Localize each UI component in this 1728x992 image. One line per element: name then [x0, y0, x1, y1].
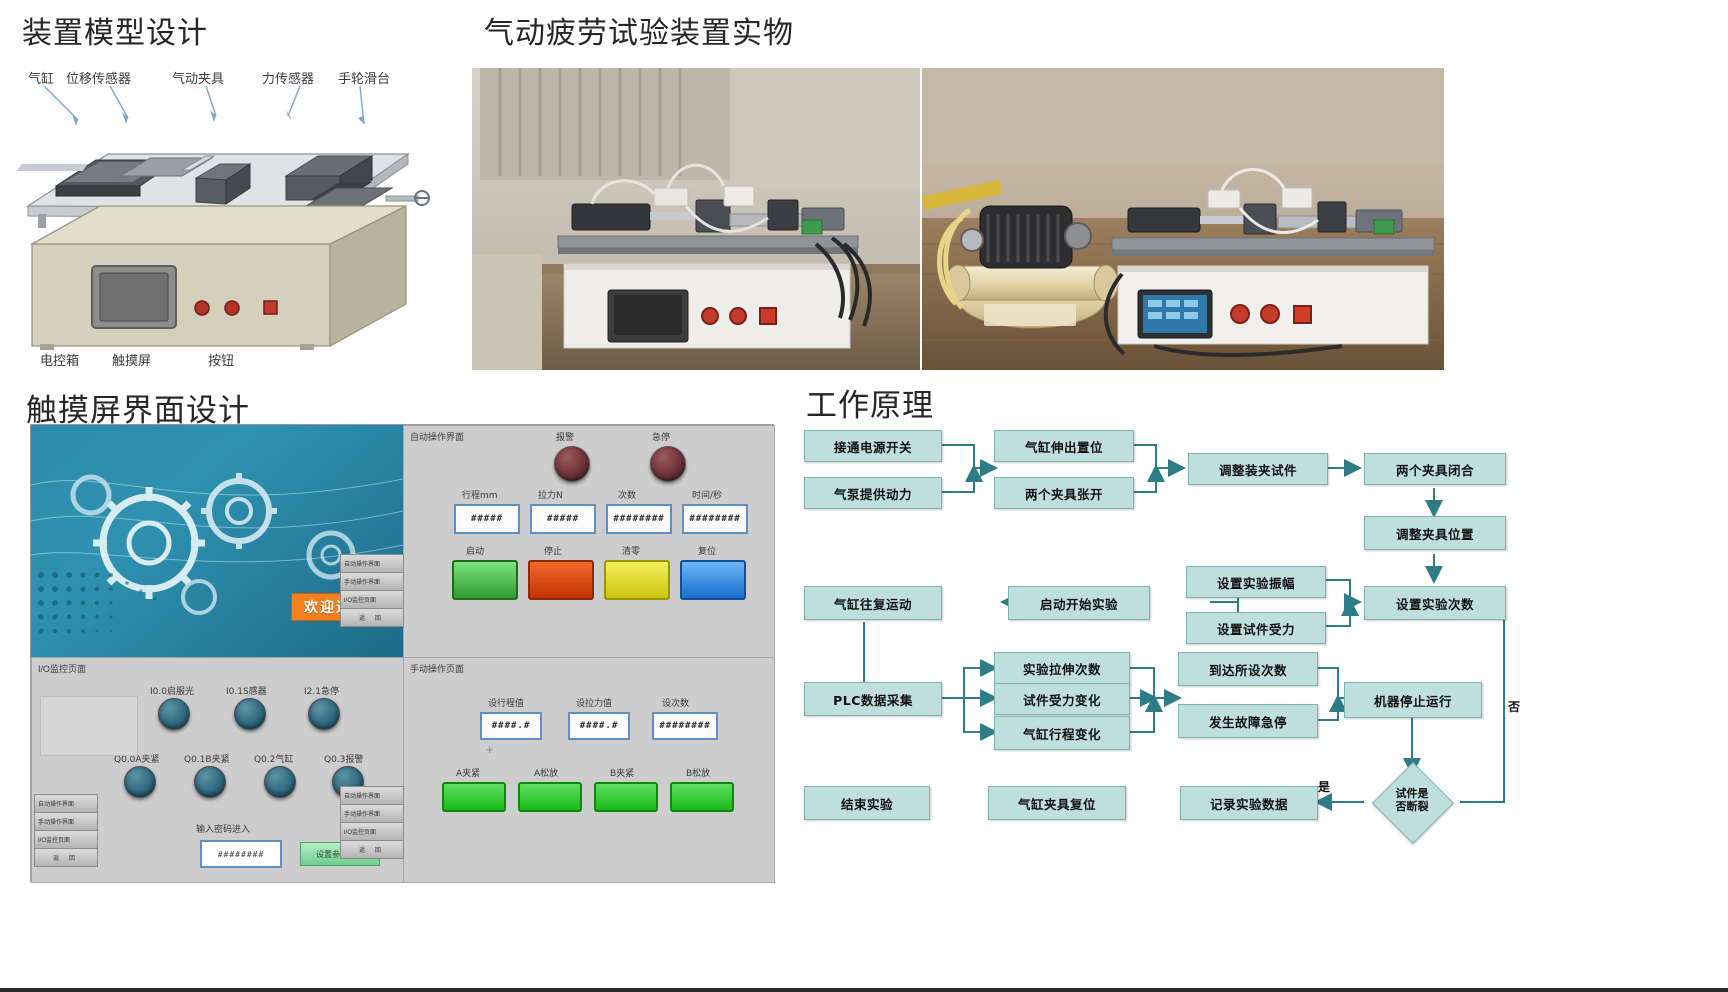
section-title-photo: 气动疲劳试验装置实物 [484, 8, 794, 52]
nav-auto-page-manual[interactable]: 自动操作界面 [340, 786, 404, 804]
nav-back-io[interactable]: 返 回 [34, 848, 98, 867]
flow-node-grippers-close: 两个夹具闭合 [1364, 453, 1506, 485]
io-lamp-q00[interactable] [124, 766, 156, 798]
hmi-manual-panel: 手动操作页面 设行程值 ####.# 设拉力值 ####.# 设次数 #####… [403, 657, 775, 883]
cad-model-drawing [0, 58, 460, 378]
io-blank-frame [40, 696, 138, 756]
auto-nav-stack: 自动操作界面 手动操作界面 I/O监控页面 返 回 [340, 554, 404, 627]
footer-rule [0, 988, 1728, 992]
device-photo-with-compressor [922, 68, 1444, 370]
auto-button-label-clear: 清零 [622, 544, 640, 557]
nav-io-page-manual[interactable]: I/O监控页面 [340, 822, 404, 840]
manual-plus-marker: + [486, 742, 494, 757]
nav-auto-page-io[interactable]: 自动操作界面 [34, 794, 98, 812]
io-label-i00: I0.0启服光 [150, 684, 194, 697]
auto-field-label-count: 次数 [618, 488, 636, 501]
auto-clear-button[interactable] [604, 560, 670, 600]
nav-manual-page[interactable]: 手动操作界面 [340, 572, 404, 590]
flow-node-set-amplitude: 设置实验振幅 [1186, 566, 1326, 598]
nav-io-page[interactable]: I/O监控页面 [340, 590, 404, 608]
auto-field-value-time: ######## [682, 504, 748, 534]
hmi-auto-panel: 自动操作界面 报警 急停 行程mm ##### 拉力N ##### 次数 ###… [403, 425, 775, 659]
manual-field-value-count[interactable]: ######## [652, 712, 718, 740]
nav-back[interactable]: 返 回 [340, 608, 404, 627]
io-password-input[interactable]: ######## [200, 840, 282, 868]
manual-field-value-force[interactable]: ####.# [568, 712, 630, 740]
estop-lamp-icon [650, 446, 686, 482]
flow-node-cylinder-extend: 气缸伸出置位 [994, 430, 1134, 462]
auto-reset-button[interactable] [680, 560, 746, 600]
manual-nav-stack: 自动操作界面 手动操作界面 I/O监控页面 返 回 [340, 786, 404, 859]
manual-field-label-stroke: 设行程值 [488, 696, 524, 709]
flow-edge-label-no: 否 [1508, 698, 1520, 715]
flow-node-power-on: 接通电源开关 [804, 430, 942, 462]
auto-field-value-stroke: ##### [454, 504, 520, 534]
io-lamp-i00[interactable] [158, 698, 190, 730]
nav-manual-page-io[interactable]: 手动操作界面 [34, 812, 98, 830]
flow-node-start-test: 启动开始实验 [1008, 586, 1150, 620]
flow-node-set-test-count: 设置实验次数 [1364, 586, 1506, 620]
device-photo-front [472, 68, 920, 370]
auto-field-value-count: ######## [606, 504, 672, 534]
io-label-q03: Q0.3报警 [324, 752, 363, 765]
manual-field-label-count: 设次数 [662, 696, 689, 709]
io-lamp-i01[interactable] [234, 698, 266, 730]
manual-button-label-a-clamp: A夹紧 [456, 766, 480, 779]
auto-stop-button[interactable] [528, 560, 594, 600]
flow-node-set-specimen-force: 设置试件受力 [1186, 612, 1326, 644]
manual-panel-caption: 手动操作页面 [410, 662, 464, 675]
flow-node-cylinder-gripper-reset: 气缸夹具复位 [988, 786, 1126, 820]
flow-edge-label-yes: 是 [1318, 778, 1330, 795]
flow-node-force-change: 试件受力变化 [994, 683, 1130, 715]
auto-field-label-time: 时间/秒 [692, 488, 722, 501]
io-label-i21: I2.1急停 [304, 684, 339, 697]
manual-button-label-b-release: B松放 [686, 766, 710, 779]
auto-button-label-reset: 复位 [698, 544, 716, 557]
io-lamp-q01[interactable] [194, 766, 226, 798]
io-lamp-q02[interactable] [264, 766, 296, 798]
auto-field-label-force: 拉力N [538, 488, 563, 501]
manual-a-release-button[interactable] [518, 782, 582, 812]
section-title-principle: 工作原理 [806, 380, 934, 425]
flow-node-cylinder-reciprocate: 气缸往复运动 [804, 586, 942, 620]
poster-page: 装置模型设计 气动疲劳试验装置实物 触摸屏界面设计 工作原理 气缸 位移传感器 … [0, 0, 1728, 992]
hmi-interface-mockup: 欢迎进入 自动操作界面 报警 急停 行程mm ##### 拉力N ##### 次… [30, 424, 774, 882]
auto-button-label-start: 启动 [466, 544, 484, 557]
manual-b-clamp-button[interactable] [594, 782, 658, 812]
nav-manual-page-manual[interactable]: 手动操作界面 [340, 804, 404, 822]
flow-decision-label: 试件是 否断裂 [1376, 788, 1448, 813]
flow-node-grippers-open: 两个夹具张开 [994, 477, 1134, 509]
io-lamp-i21[interactable] [308, 698, 340, 730]
working-principle-flowchart: 接通电源开关 气泵提供动力 气缸伸出置位 两个夹具张开 调整装夹试件 两个夹具闭… [798, 420, 1718, 880]
flow-node-adjust-gripper-position: 调整夹具位置 [1364, 516, 1506, 550]
nav-io-page-io[interactable]: I/O监控页面 [34, 830, 98, 848]
flow-node-stroke-change: 气缸行程变化 [994, 716, 1130, 750]
auto-panel-caption: 自动操作界面 [410, 430, 464, 443]
flow-node-reached-count: 到达所设次数 [1178, 652, 1318, 686]
flow-node-end-test: 结束实验 [804, 786, 930, 820]
alarm-lamp-icon [554, 446, 590, 482]
flow-node-fault-estop: 发生故障急停 [1178, 704, 1318, 738]
auto-button-label-stop: 停止 [544, 544, 562, 557]
section-title-model: 装置模型设计 [22, 8, 208, 52]
flow-node-plc-data-collect: PLC数据采集 [804, 682, 942, 716]
nav-auto-page[interactable]: 自动操作界面 [340, 554, 404, 572]
manual-field-label-force: 设拉力值 [576, 696, 612, 709]
manual-field-value-stroke[interactable]: ####.# [480, 712, 542, 740]
cad-model-illustration: 气缸 位移传感器 气动夹具 力传感器 手轮滑台 电控箱 触摸屏 按钮 [0, 58, 460, 378]
io-panel-caption: I/O监控页面 [38, 662, 86, 675]
io-label-i01: I0.1S感器 [226, 684, 267, 697]
io-label-q01: Q0.1B夹紧 [184, 752, 230, 765]
flow-node-stretch-count: 实验拉伸次数 [994, 652, 1130, 684]
manual-button-label-b-clamp: B夹紧 [610, 766, 634, 779]
nav-back-manual[interactable]: 返 回 [340, 840, 404, 859]
flow-node-record-data: 记录实验数据 [1180, 786, 1318, 820]
auto-field-value-force: ##### [530, 504, 596, 534]
flow-node-mount-specimen: 调整装夹试件 [1188, 453, 1328, 485]
manual-button-label-a-release: A松放 [534, 766, 558, 779]
flow-node-air-pump: 气泵提供动力 [804, 477, 942, 509]
io-nav-stack: 自动操作界面 手动操作界面 I/O监控页面 返 回 [34, 794, 98, 867]
io-label-q02: Q0.2气缸 [254, 752, 293, 765]
auto-lamp-label-alarm: 报警 [556, 430, 574, 443]
auto-field-label-stroke: 行程mm [462, 488, 498, 501]
io-password-label: 输入密码进入 [196, 822, 250, 835]
manual-a-clamp-button[interactable] [442, 782, 506, 812]
manual-b-release-button[interactable] [670, 782, 734, 812]
auto-lamp-label-estop: 急停 [652, 430, 670, 443]
auto-start-button[interactable] [452, 560, 518, 600]
flow-node-machine-stop: 机器停止运行 [1344, 682, 1482, 718]
